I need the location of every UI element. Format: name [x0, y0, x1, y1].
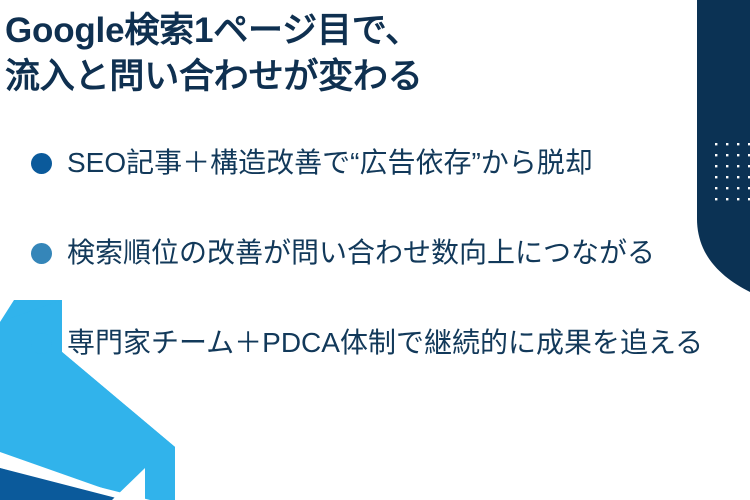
- slide-title: Google検索1ページ目で、 流入と問い合わせが変わる: [5, 8, 685, 99]
- title-line-2: 流入と問い合わせが変わる: [5, 54, 685, 100]
- bullet-item-2: 検索順位の改善が問い合わせ数向上につながる: [0, 224, 750, 282]
- slide-canvas: Google検索1ページ目で、 流入と問い合わせが変わる SEO記事＋構造改善で…: [0, 0, 750, 500]
- filled-circle-bullet-icon: [31, 243, 52, 264]
- bullet-text-3: 専門家チーム＋PDCA体制で継続的に成果を追える: [67, 328, 703, 359]
- bullet-text-2: 検索順位の改善が問い合わせ数向上につながる: [67, 238, 655, 269]
- bullet-text-1: SEO記事＋構造改善で“広告依存”から脱却: [67, 148, 593, 179]
- filled-circle-bullet-icon: [31, 333, 52, 354]
- white-diagonal-gap-2: [0, 455, 150, 500]
- navy-corner-triangle: [0, 468, 124, 500]
- bullet-list: SEO記事＋構造改善で“広告依存”から脱却 検索順位の改善が問い合わせ数向上につ…: [0, 134, 750, 404]
- title-line-1: Google検索1ページ目で、: [5, 8, 685, 54]
- chevron-notch: [112, 468, 145, 500]
- white-diagonal-gap: [0, 452, 136, 500]
- bullet-item-3: 専門家チーム＋PDCA体制で継続的に成果を追える: [0, 314, 750, 372]
- bullet-item-1: SEO記事＋構造改善で“広告依存”から脱却: [0, 134, 750, 192]
- filled-circle-bullet-icon: [31, 153, 52, 174]
